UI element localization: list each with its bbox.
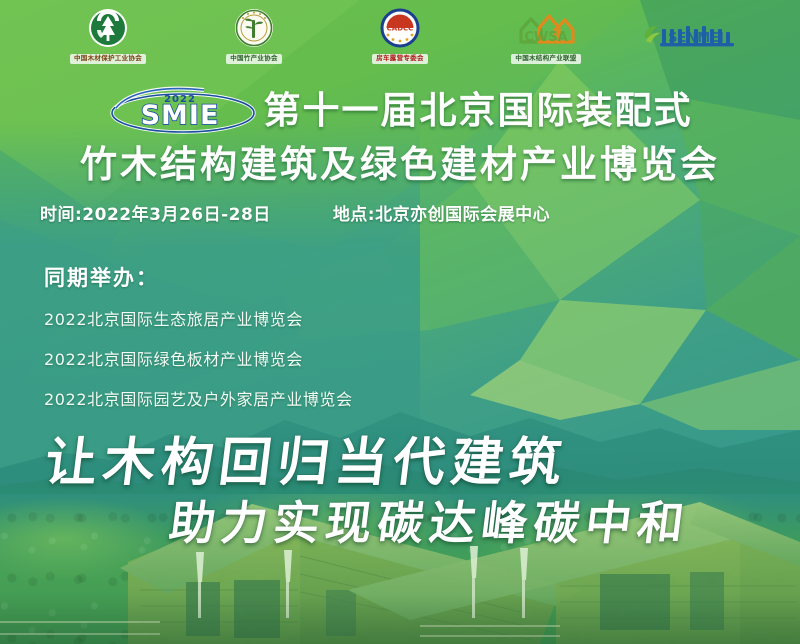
headline-line-2: 竹木结构建筑及绿色建材产业博览会	[0, 140, 800, 190]
event-meta: 时间:2022年3月26日-28日 地点:北京亦创国际会展中心	[40, 200, 760, 225]
headline-row-1: 2022 SMIE 第十一届北京国际装配式	[0, 84, 800, 138]
pine-tree-in-circle-icon	[88, 8, 128, 53]
logo-cwsa-china-wood-structure-alliance[interactable]: CWSA 中国木结构产业联盟	[486, 8, 606, 63]
headline-line-1: 第十一届北京国际装配式	[264, 86, 693, 136]
logo-china-bamboo-association[interactable]: 中国竹产业协会	[194, 8, 314, 63]
concurrent-event-list: 2022北京国际生态旅居产业博览会 2022北京国际绿色板材产业博览会 2022…	[44, 306, 353, 410]
svg-text:CADCC: CADCC	[387, 25, 414, 33]
sponsor-logo-strip: 中国木材保护工业协会	[0, 0, 800, 72]
cwsa-house-icon: CWSA	[515, 8, 577, 53]
svg-text:SMIE: SMIE	[140, 100, 219, 131]
smie-logo: 2022 SMIE	[108, 86, 258, 136]
event-venue: 地点:北京亦创国际会展中心	[333, 200, 550, 225]
slogan-line-1: 让木构回归当代建筑	[41, 420, 572, 495]
logo-caption: 中国木结构产业联盟	[511, 54, 580, 63]
logo-cadcc-rv-camping-committee[interactable]: CADCC 房车露营专委会	[340, 8, 460, 63]
senmei-wordmark-icon: SENMEI	[640, 17, 744, 56]
bamboo-seal-icon	[234, 8, 274, 53]
logo-senmei-brand[interactable]: SENMEI	[632, 17, 752, 56]
logo-caption: 中国木材保护工业协会	[70, 54, 146, 63]
svg-text:CWSA: CWSA	[524, 30, 567, 45]
event-date: 时间:2022年3月26日-28日	[40, 200, 271, 225]
list-item: 2022北京国际生态旅居产业博览会	[44, 306, 353, 330]
concurrent-events-block: 同期举办： 2022北京国际生态旅居产业博览会 2022北京国际绿色板材产业博览…	[44, 262, 353, 426]
concurrent-heading: 同期举办：	[44, 262, 353, 292]
slogan-line-2: 助力实现碳达峰碳中和	[166, 487, 694, 553]
list-item: 2022北京国际园艺及户外家居产业博览会	[44, 386, 353, 410]
svg-text:SENMEI: SENMEI	[668, 31, 724, 46]
logo-caption: 中国竹产业协会	[226, 54, 282, 63]
exhibition-poster: 中国木材保护工业协会	[0, 0, 800, 644]
logo-china-wood-protection-industry-association[interactable]: 中国木材保护工业协会	[48, 8, 168, 63]
headline-block: 2022 SMIE 第十一届北京国际装配式 竹木结构建筑及绿色建材产业博览会	[0, 84, 800, 190]
cadcc-roundel-icon: CADCC	[380, 8, 420, 53]
list-item: 2022北京国际绿色板材产业博览会	[44, 346, 353, 370]
logo-caption: 房车露营专委会	[372, 54, 428, 63]
